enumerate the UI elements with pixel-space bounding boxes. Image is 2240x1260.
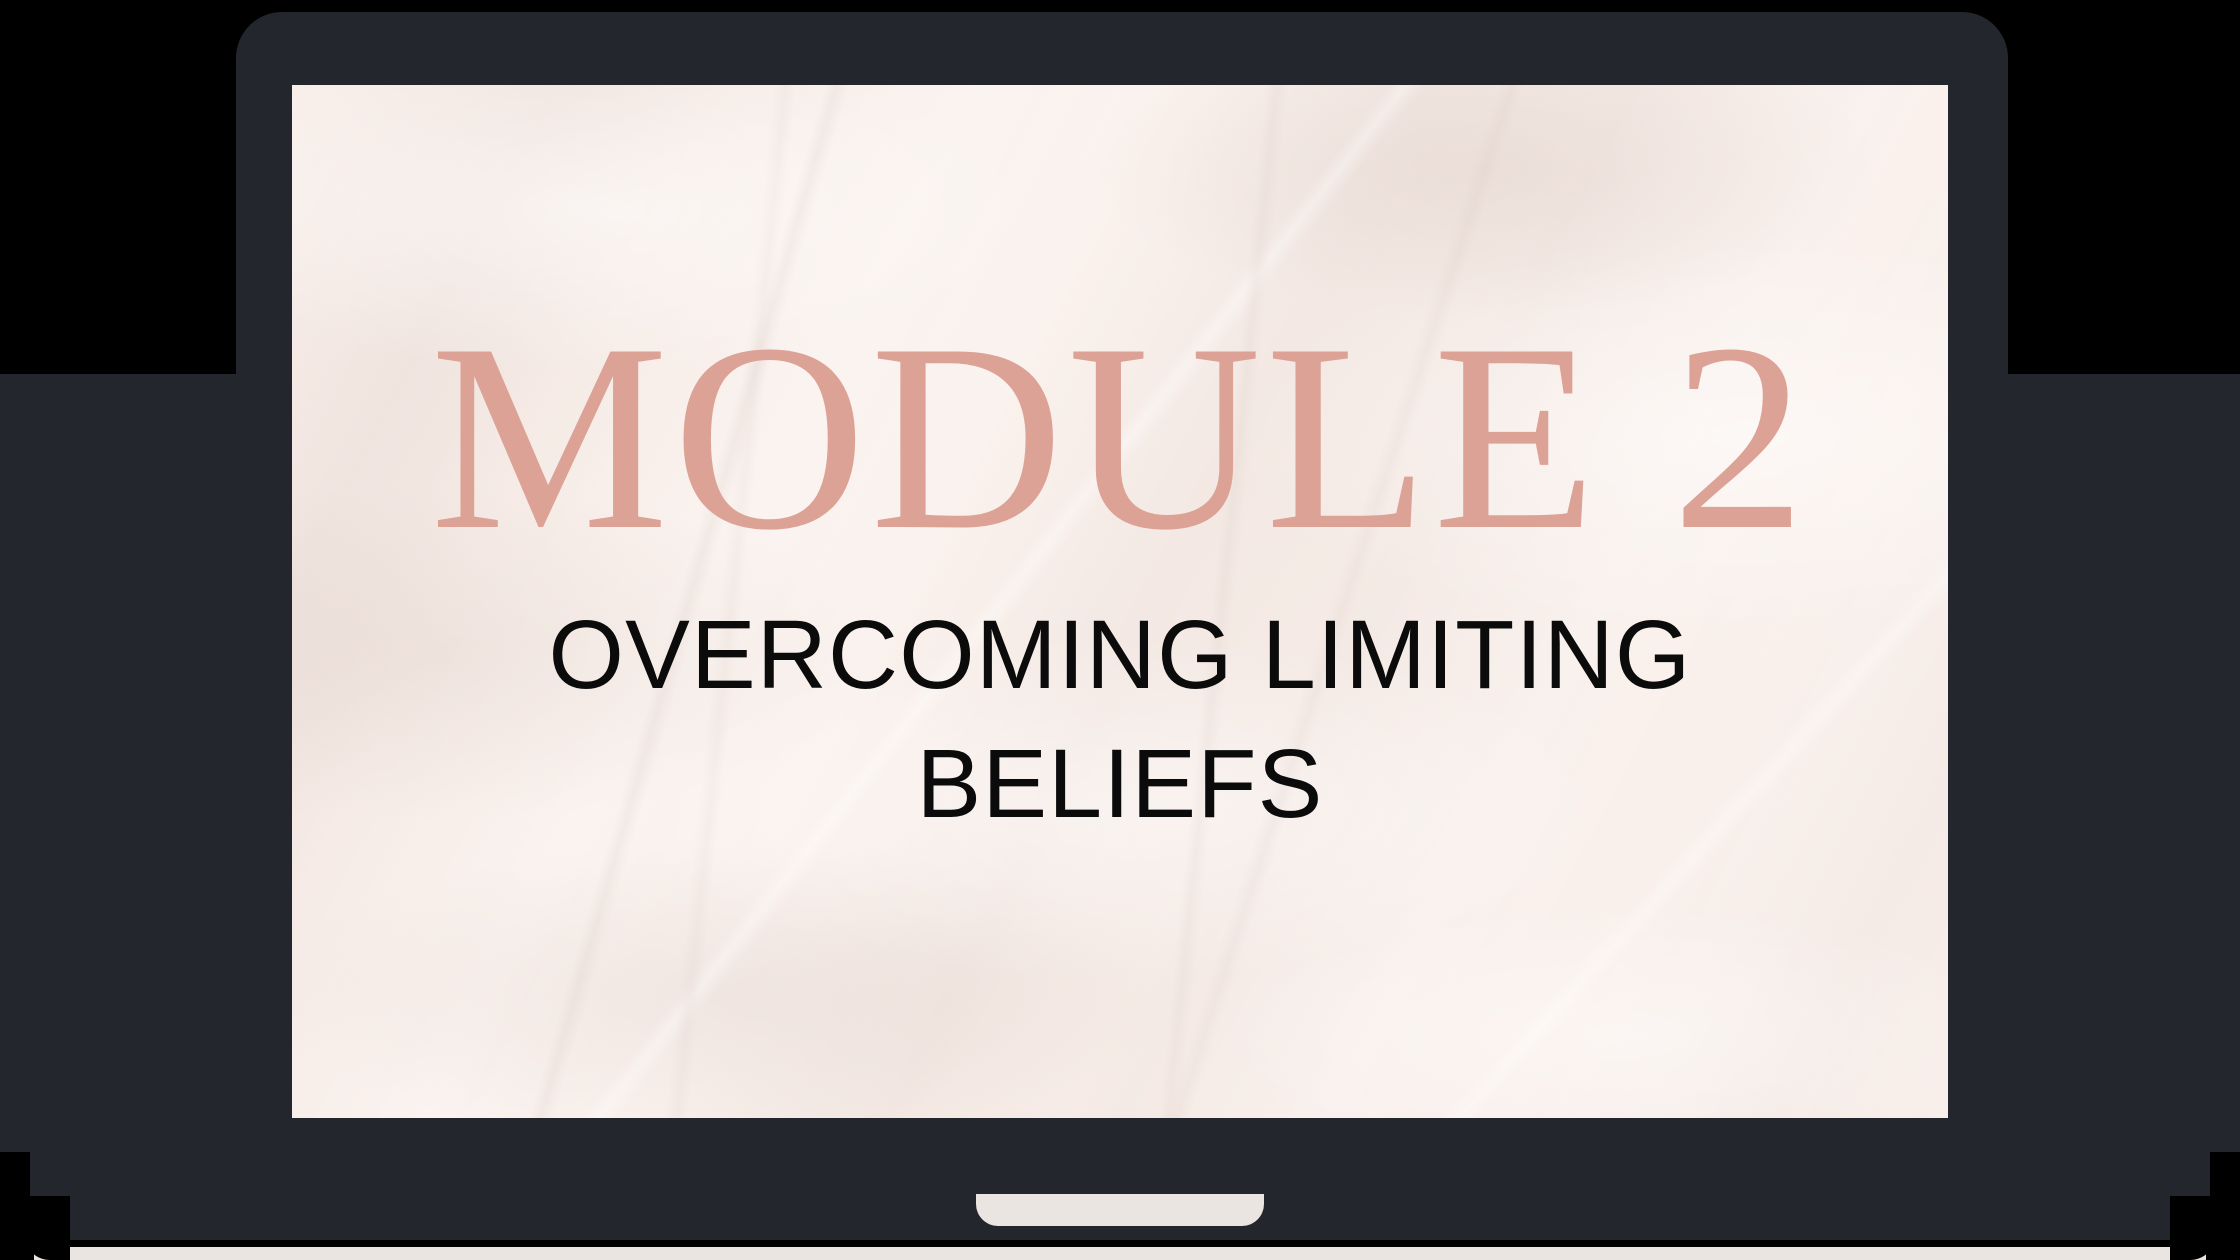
laptop-foot-notch-left-round [24, 1196, 70, 1260]
slide-content: MODULE 2 OVERCOMING LIMITING BELIEFS [292, 85, 1948, 1118]
module-subtitle-line-1: OVERCOMING LIMITING [352, 590, 1888, 719]
laptop-base-lip [34, 1247, 2206, 1260]
module-title: MODULE 2 [292, 303, 1948, 571]
laptop-thumb-notch [976, 1194, 1264, 1226]
laptop-foot-notch-right-round [2170, 1196, 2216, 1260]
module-subtitle: OVERCOMING LIMITING BELIEFS [292, 590, 1948, 848]
laptop-mockup: MODULE 2 OVERCOMING LIMITING BELIEFS [0, 0, 2240, 1260]
module-subtitle-line-2: BELIEFS [352, 719, 1888, 848]
screenshot-stage: MODULE 2 OVERCOMING LIMITING BELIEFS [0, 0, 2240, 1260]
laptop-screen: MODULE 2 OVERCOMING LIMITING BELIEFS [292, 85, 1948, 1118]
